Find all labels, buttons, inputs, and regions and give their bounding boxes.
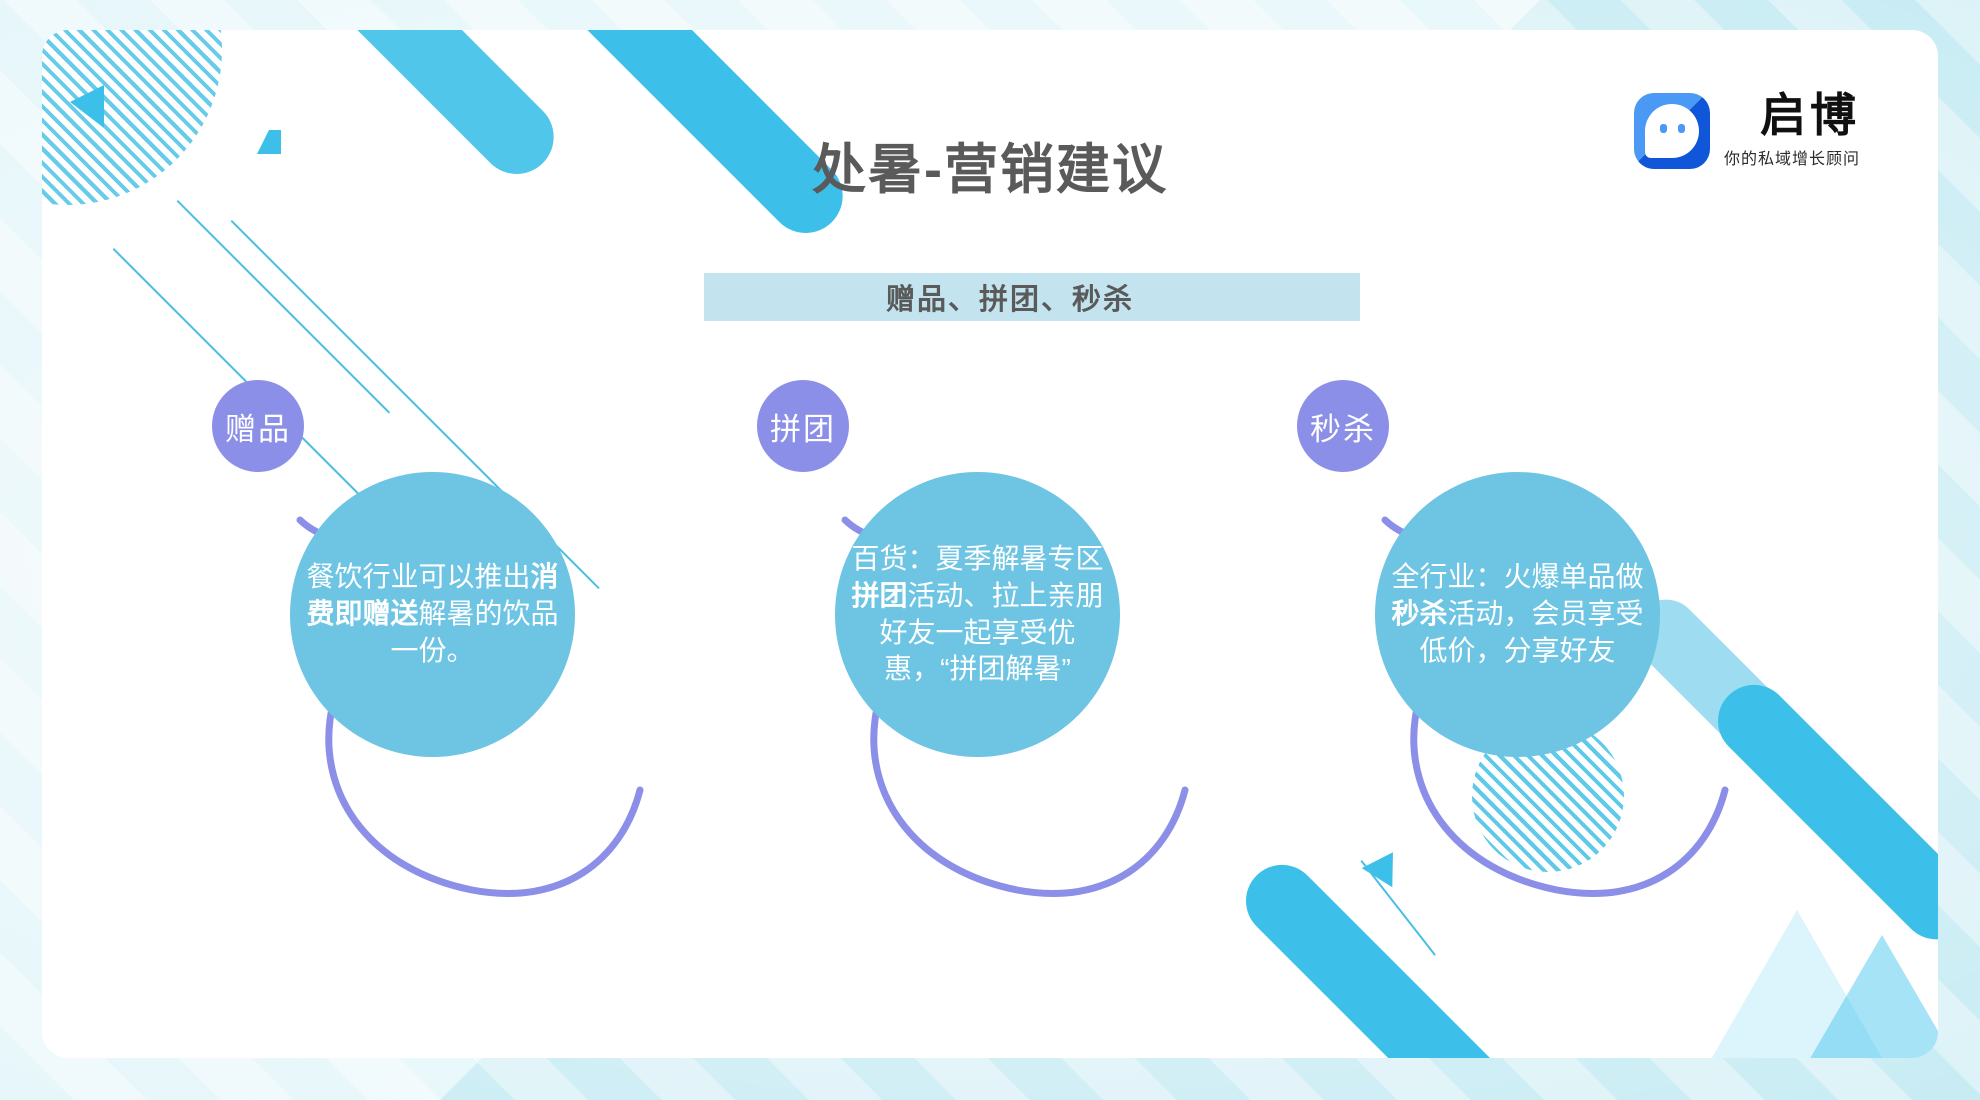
badge-label-3: 秒杀 (1310, 404, 1376, 449)
slide-canvas: 处暑-营销建议 赠品、拼团、秒杀 启博 你的私域增长顾问 赠品 (0, 0, 1980, 1100)
subtitle-text: 赠品、拼团、秒杀 (886, 276, 1134, 318)
triangle-outline-br (1702, 910, 1892, 1058)
brand-logo: 启博 你的私域增长顾问 (1634, 92, 1860, 169)
bubble-text-3: 全行业：火爆单品做秒杀活动，会员享受低价，分享好友 (1375, 559, 1660, 670)
triangle-filled-br (1777, 935, 1938, 1058)
content-bubble-3[interactable]: 全行业：火爆单品做秒杀活动，会员享受低价，分享好友 (1375, 472, 1660, 757)
brand-name: 启博 (1760, 92, 1860, 138)
badge-label-1: 赠品 (225, 404, 291, 449)
badge-circle-1[interactable]: 赠品 (212, 380, 304, 472)
triangle-arrow-left (70, 85, 104, 128)
brand-tagline: 你的私域增长顾问 (1724, 145, 1860, 169)
subtitle-text-wrap: 赠品、拼团、秒杀 (704, 273, 1360, 321)
bubble-text-1: 餐饮行业可以推出消费即赠送解暑的饮品一份。 (290, 559, 575, 670)
badge-label-2: 拼团 (770, 404, 836, 449)
chat-bubble-icon (1634, 93, 1710, 169)
thin-diagonal-line-1 (177, 200, 391, 414)
slide-card: 处暑-营销建议 赠品、拼团、秒杀 启博 你的私域增长顾问 赠品 (42, 30, 1938, 1058)
badge-circle-3[interactable]: 秒杀 (1297, 380, 1389, 472)
badge-circle-2[interactable]: 拼团 (757, 380, 849, 472)
content-bubble-1[interactable]: 餐饮行业可以推出消费即赠送解暑的饮品一份。 (290, 472, 575, 757)
bubble-text-2: 百货：夏季解暑专区拼团活动、拉上亲朋好友一起享受优惠，“拼团解暑” (835, 541, 1120, 689)
content-bubble-2[interactable]: 百货：夏季解暑专区拼团活动、拉上亲朋好友一起享受优惠，“拼团解暑” (835, 472, 1120, 757)
